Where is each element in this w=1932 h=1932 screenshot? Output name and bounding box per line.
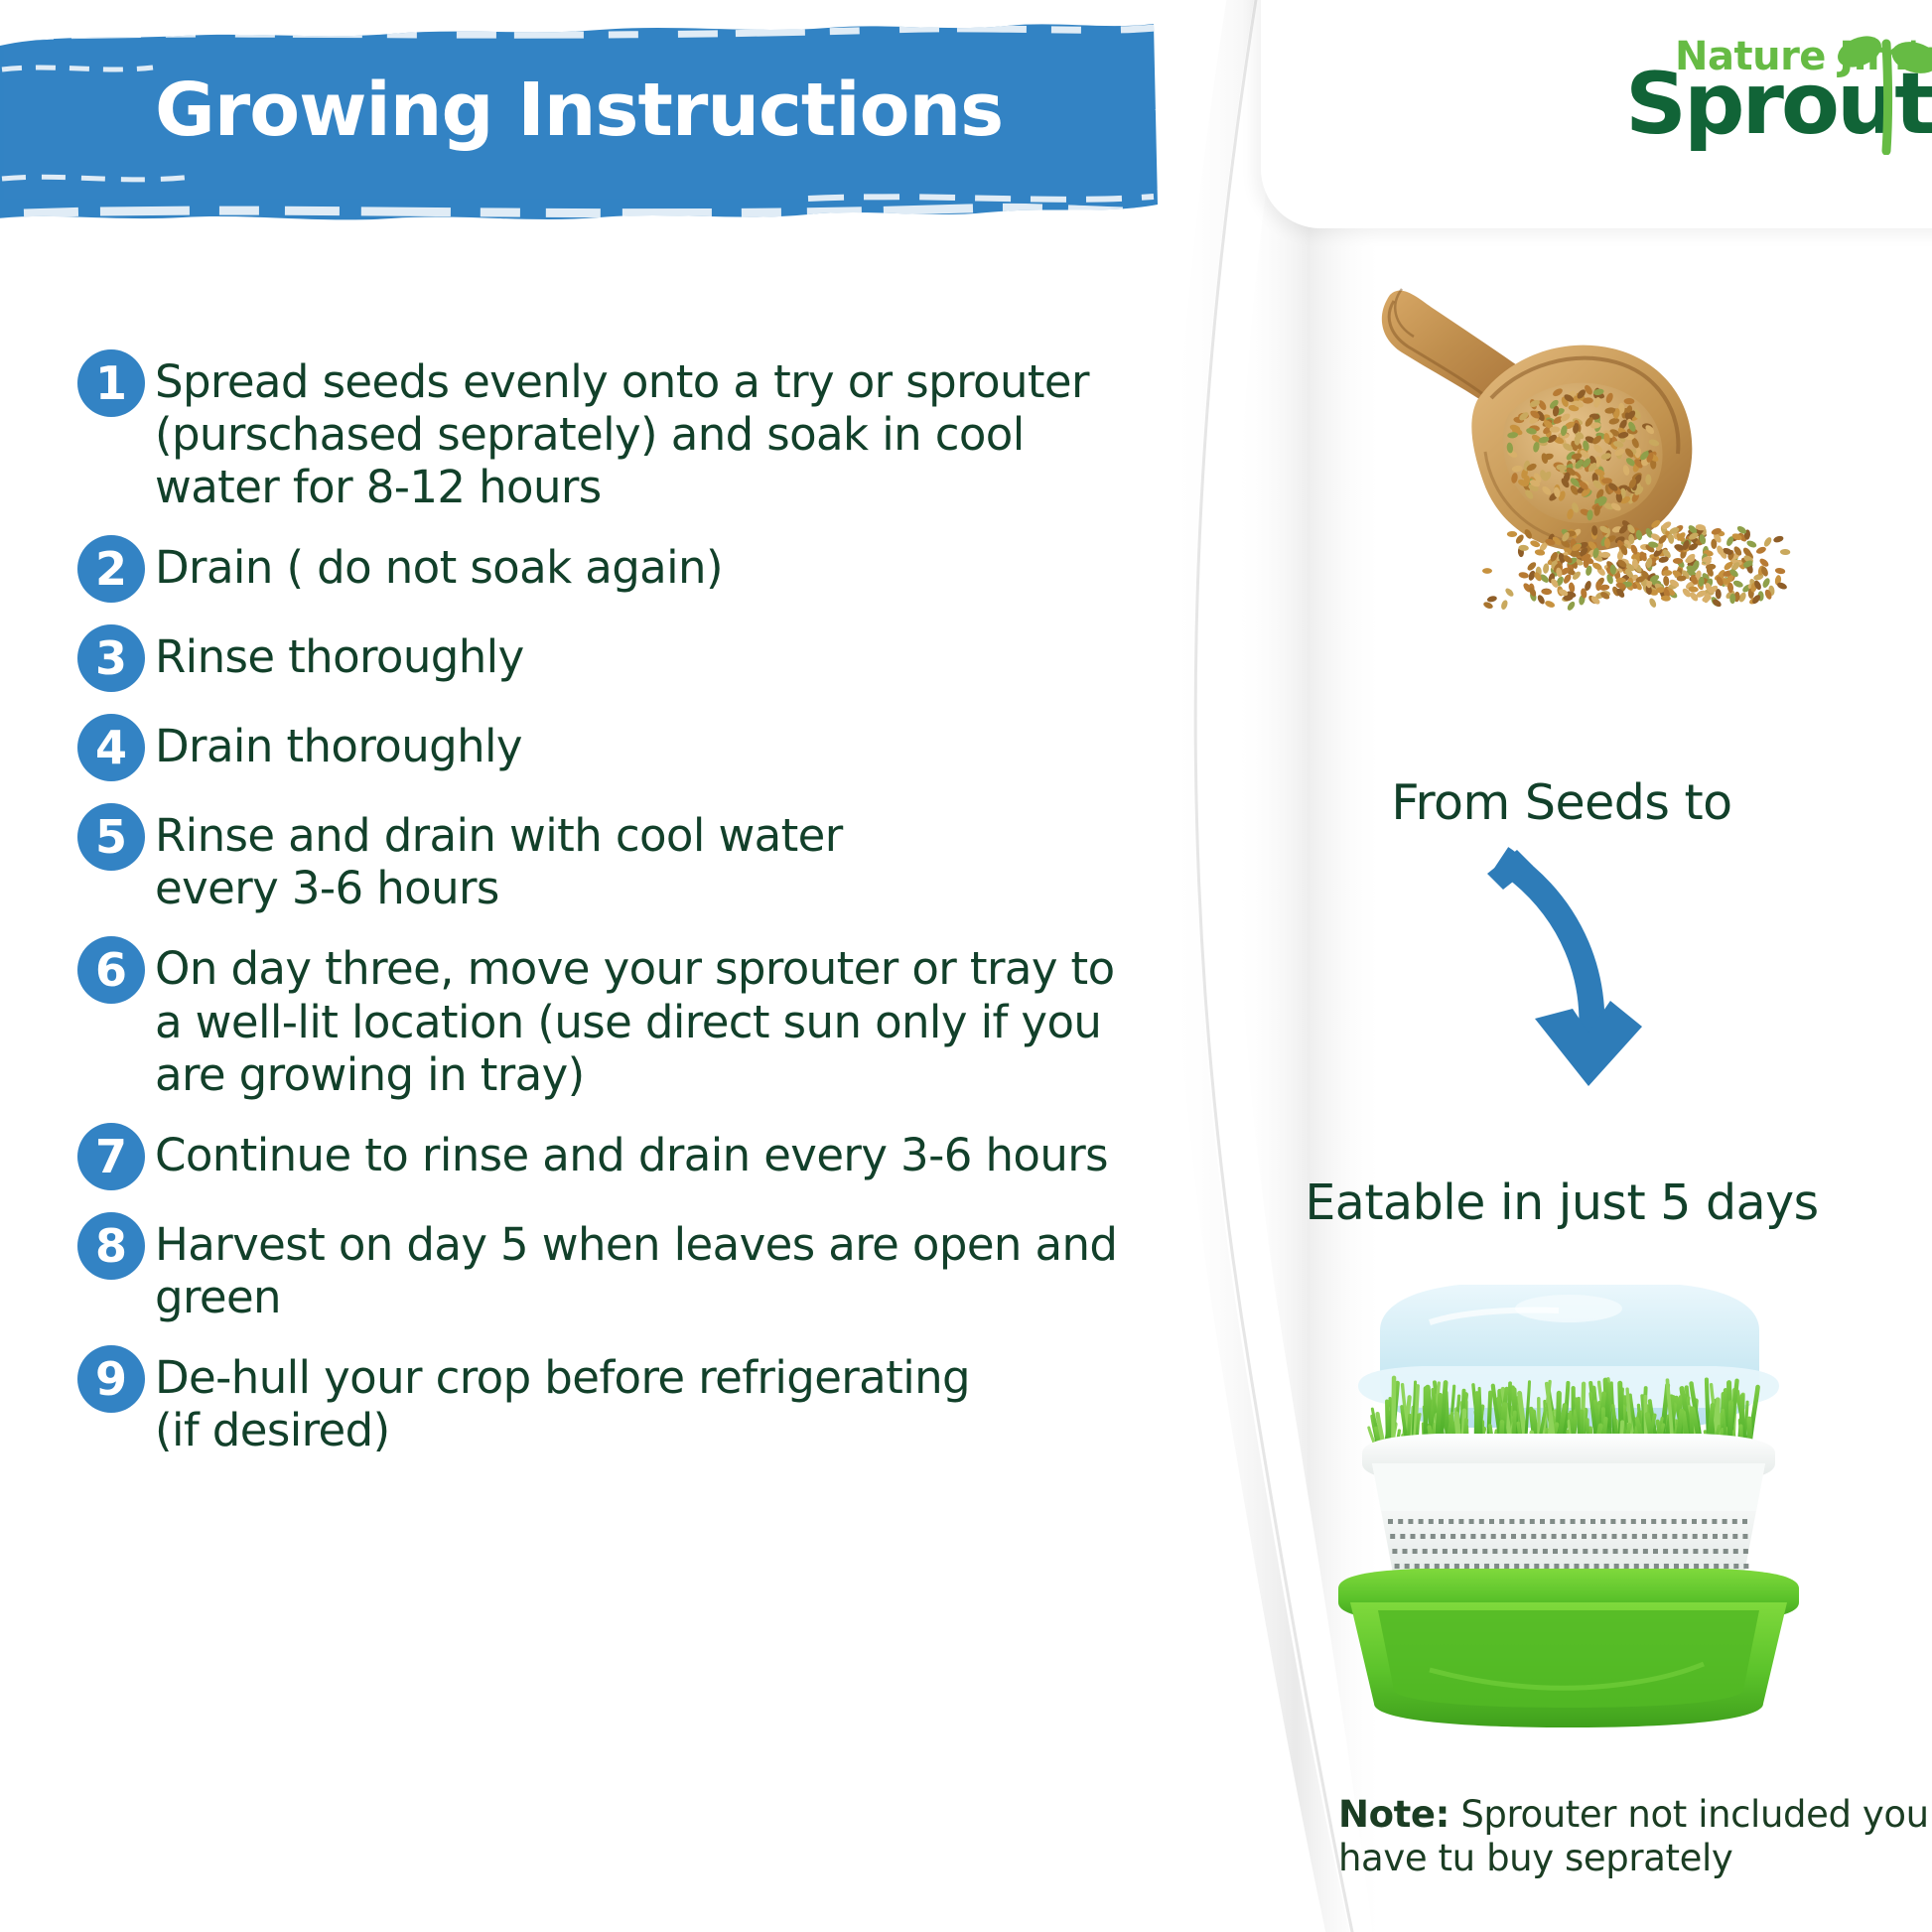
spilled-seed-pile [1482,518,1790,611]
step-text: On day three, move your sprouter or tray… [155,942,1150,1100]
step-text: Rinse and drain with cool water every 3-… [155,809,1150,914]
step-number-badge: 3 [77,624,145,692]
step-number-badge: 7 [77,1123,145,1190]
step-text: Drain ( do not soak again) [155,541,1150,594]
step-item: 8 Harvest on day 5 when leaves are open … [77,1218,1150,1323]
step-number-badge: 9 [77,1345,145,1413]
page-title: Growing Instructions [155,68,1003,153]
step-text: Harvest on day 5 when leaves are open an… [155,1218,1150,1323]
instruction-steps-list: 1 Spread seeds evenly onto a try or spro… [77,355,1150,1484]
step-number-badge: 6 [77,936,145,1004]
step-number-badge: 1 [77,349,145,417]
step-number-badge: 2 [77,535,145,603]
green-base-tray [1338,1569,1799,1727]
sprouter-tray-image [1311,1269,1827,1735]
right-panel: From Seeds to Eatable in just 5 days [1191,0,1932,1932]
caption-from-seeds: From Seeds to [1191,774,1932,831]
curved-down-arrow-icon [1477,844,1676,1122]
step-number-badge: 5 [77,803,145,871]
step-number-badge: 4 [77,714,145,781]
step-item: 4 Drain thoroughly [77,720,1150,781]
step-item: 7 Continue to rinse and drain every 3-6 … [77,1129,1150,1190]
caption-eatable-in-days: Eatable in just 5 days [1191,1174,1932,1231]
step-item: 2 Drain ( do not soak again) [77,541,1150,603]
note-text: Note: Sprouter not included you have tu … [1338,1793,1932,1881]
step-text: Continue to rinse and drain every 3-6 ho… [155,1129,1150,1181]
scoop-with-seeds-image [1368,253,1795,611]
step-number-badge: 8 [77,1212,145,1280]
step-text: De-hull your crop before refrigerating (… [155,1351,1150,1456]
note-label: Note: [1338,1793,1449,1836]
step-text: Drain thoroughly [155,720,1150,772]
step-item: 9 De-hull your crop before refrigerating… [77,1351,1150,1456]
step-item: 6 On day three, move your sprouter or tr… [77,942,1150,1100]
step-item: 5 Rinse and drain with cool water every … [77,809,1150,914]
poster-root: Growing Instructions Nature Jim's Sprout… [0,0,1932,1932]
sprout-icon [1830,26,1932,155]
step-text: Rinse thoroughly [155,630,1150,683]
brand-logo: Nature Jim's Sprouts [1613,28,1911,162]
step-item: 1 Spread seeds evenly onto a try or spro… [77,355,1150,513]
step-text: Spread seeds evenly onto a try or sprout… [155,355,1150,513]
step-item: 3 Rinse thoroughly [77,630,1150,692]
